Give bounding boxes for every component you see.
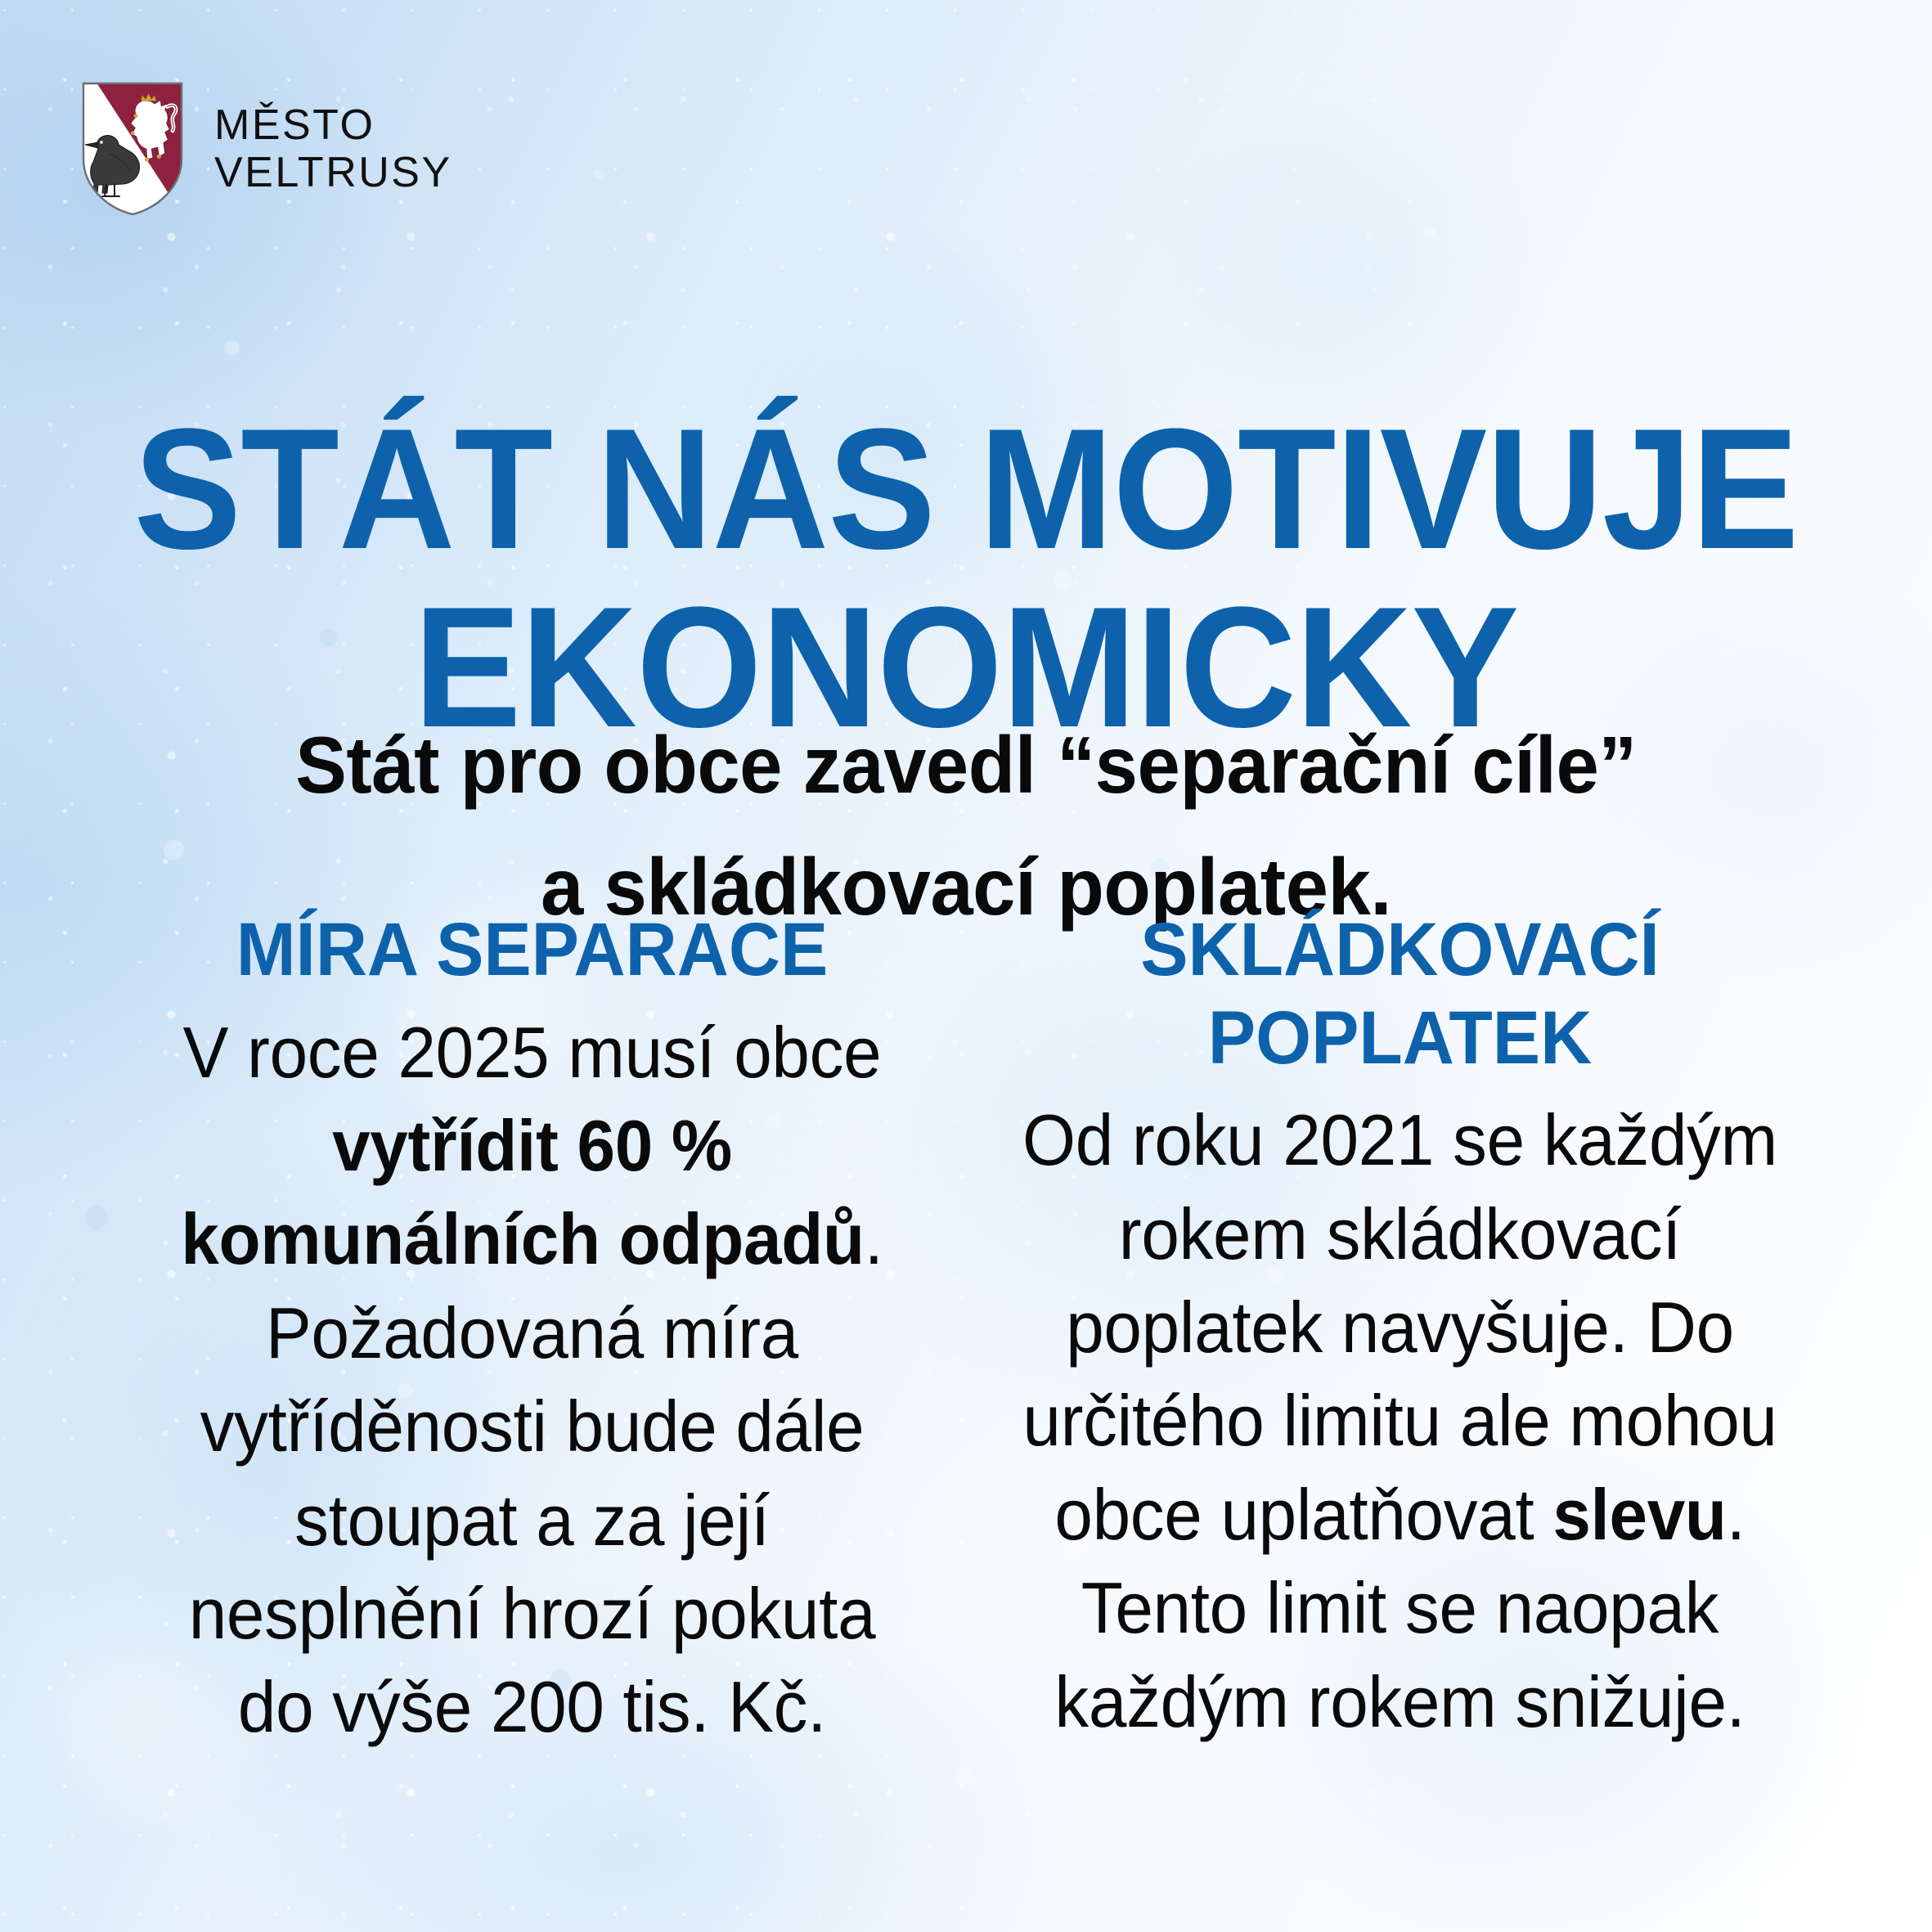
coat-of-arms-icon	[80, 80, 185, 218]
column-heading-mira-separace: MÍRA SEPARACE	[143, 906, 921, 995]
column-heading-skladkovaci-poplatek: SKLÁDKOVACÍ POPLATEK	[1011, 906, 1789, 1082]
column-body-mira-separace: V roce 2025 musí obce vytřídit 60 % komu…	[143, 1006, 921, 1755]
municipality-logo: MĚSTO VELTRUSY	[80, 80, 452, 218]
info-columns: MÍRA SEPARACE V roce 2025 musí obce vytř…	[123, 906, 1809, 1755]
page-title-line-1: STÁT NÁS MOTIVUJE	[58, 400, 1874, 578]
column-mira-separace: MÍRA SEPARACE V roce 2025 musí obce vytř…	[123, 906, 941, 1755]
column-body-skladkovaci-poplatek: Od roku 2021 se každým rokem skládkovací…	[1011, 1094, 1789, 1749]
logo-line-veltrusy: VELTRUSY	[214, 149, 452, 196]
column-skladkovaci-poplatek: SKLÁDKOVACÍ POPLATEK Od roku 2021 se kaž…	[991, 906, 1809, 1755]
body-emphasis: vytřídit 60 % komunálních odpadů	[181, 1105, 865, 1279]
logo-line-mesto: MĚSTO	[214, 101, 452, 149]
page-title: STÁT NÁS MOTIVUJE EKONOMICKY	[58, 400, 1874, 757]
body-emphasis: slevu	[1552, 1474, 1726, 1555]
body-text: . Požadovaná míra vytříděnosti bude dále…	[189, 1198, 883, 1747]
infographic-poster: MĚSTO VELTRUSY STÁT NÁS MOTIVUJE EKONOMI…	[0, 0, 1932, 1932]
logo-wordmark: MĚSTO VELTRUSY	[214, 101, 452, 196]
body-text: V roce 2025 musí obce	[183, 1012, 882, 1093]
page-subtitle-line-1: Stát pro obce zavedl “separační cíle”	[38, 704, 1894, 826]
